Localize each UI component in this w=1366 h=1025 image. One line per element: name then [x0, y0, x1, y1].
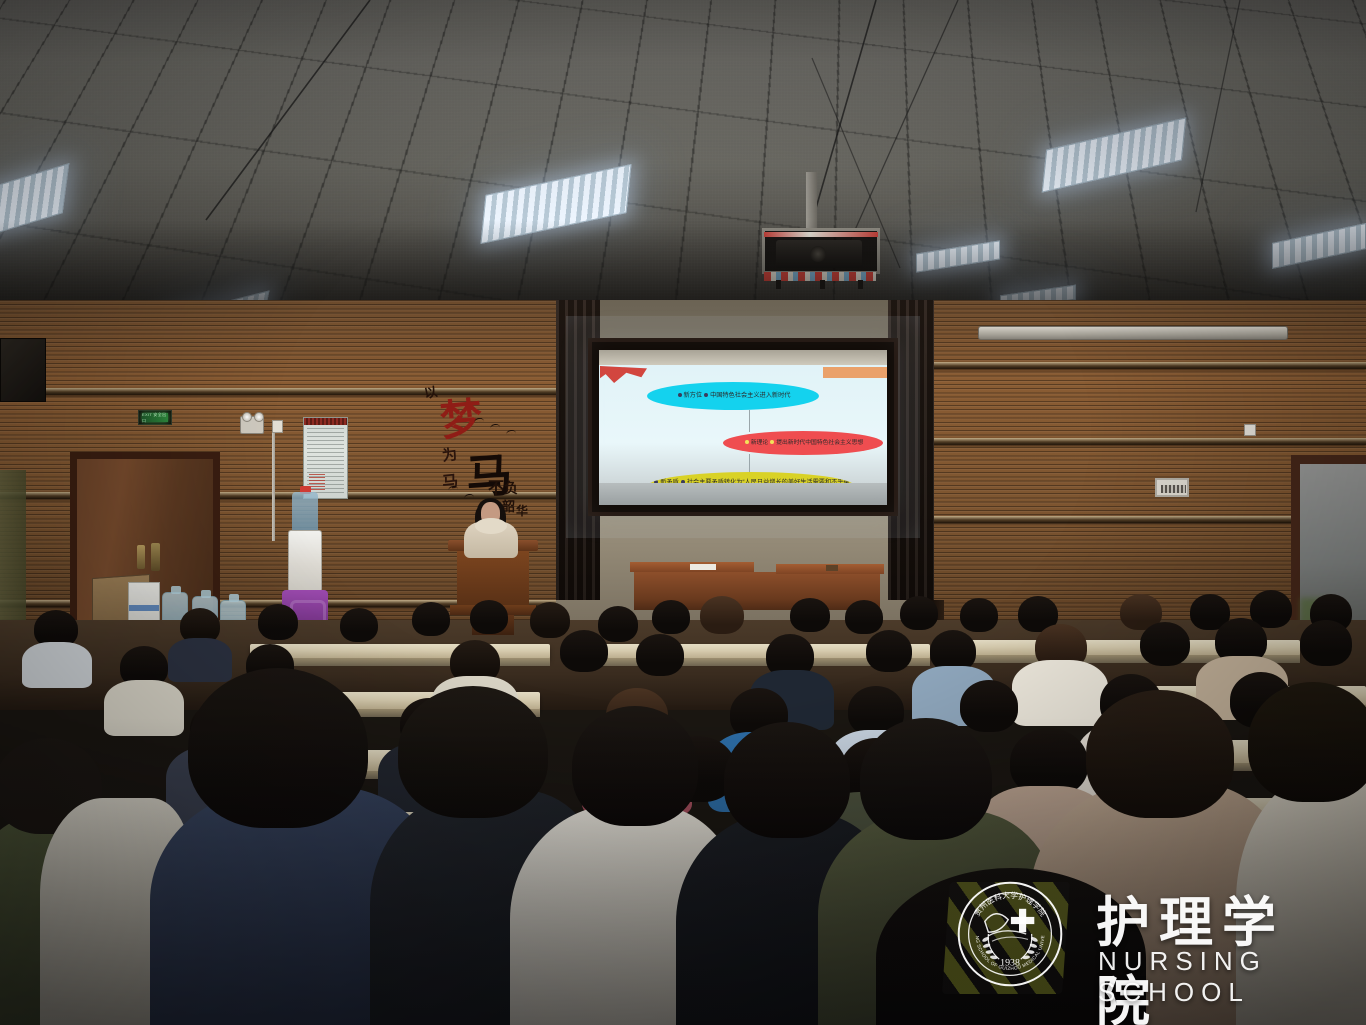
slide-ellipse-blue-label: 新方位 — [684, 392, 703, 399]
audience-head — [866, 630, 912, 672]
audience-head — [412, 602, 450, 636]
audience-head — [598, 606, 638, 642]
presenter-collar — [475, 518, 507, 534]
notice-red-block — [309, 474, 325, 490]
wall-control-panel[interactable] — [1155, 478, 1189, 497]
audience-head-front — [398, 686, 548, 818]
audience-head — [258, 604, 298, 640]
audience-body — [104, 680, 184, 736]
wall-air-conditioner — [978, 326, 1288, 340]
desk-row — [250, 644, 550, 659]
slide-bottom-strip — [599, 483, 887, 505]
audience-body — [1012, 660, 1108, 726]
slide-connector-line — [749, 410, 750, 432]
slide-bullet-icon — [770, 440, 774, 444]
audience-head — [960, 598, 998, 632]
water-jug — [292, 492, 318, 532]
audience-head — [700, 596, 744, 634]
slide-orange-banner — [823, 367, 887, 378]
presenter-at-podium — [455, 500, 525, 556]
audience-head-front — [1086, 690, 1234, 818]
audience-head — [1300, 620, 1352, 666]
slide-ellipse-blue-text: 中国特色社会主义进入新时代 — [710, 392, 790, 399]
audience-head — [845, 600, 883, 634]
audience-head — [960, 680, 1018, 732]
audience-head — [636, 634, 684, 676]
notice-header — [304, 418, 347, 425]
audience-body — [168, 638, 232, 682]
projection-slide: 新方位中国特色社会主义进入新时代 新理论提出新时代中国特色社会主义思想 新矛盾社… — [599, 350, 887, 505]
slide-bullet-icon — [745, 440, 749, 444]
slide-ellipse-red-text: 提出新时代中国特色社会主义思想 — [776, 440, 863, 446]
ceiling — [0, 0, 1366, 340]
audience-body — [22, 642, 92, 688]
slide-bullet-icon — [704, 393, 708, 397]
slide-ellipse-red: 新理论提出新时代中国特色社会主义思想 — [723, 431, 883, 455]
audience-head-front — [188, 668, 368, 828]
audience-head — [560, 630, 608, 672]
exit-sign-label: EXIT 安全出口 — [142, 413, 168, 422]
audience-head — [530, 602, 570, 638]
emergency-light — [240, 416, 264, 434]
wall-speaker — [0, 338, 46, 402]
lecture-hall-photo: 新方位中国特色社会主义进入新时代 新理论提出新时代中国特色社会主义思想 新矛盾社… — [0, 0, 1366, 1025]
slide-ellipse-red-label: 新理论 — [751, 440, 768, 446]
audience-head — [900, 596, 938, 630]
slide-top-strip — [599, 350, 887, 365]
projection-screen: 新方位中国特色社会主义进入新时代 新理论提出新时代中国特色社会主义思想 新矛盾社… — [588, 338, 898, 516]
slide-ribbon-decoration — [600, 366, 647, 383]
wall-cable — [272, 433, 275, 541]
audience-head-front — [1248, 682, 1366, 802]
audience-head — [340, 608, 378, 642]
wall-switch[interactable] — [272, 420, 283, 433]
audience-head-front — [724, 722, 850, 838]
audience-head — [470, 600, 508, 634]
slide-ellipse-blue: 新方位中国特色社会主义进入新时代 — [647, 382, 819, 410]
audience-head — [1140, 622, 1190, 666]
audience-head-front — [860, 718, 992, 840]
seated-audience — [0, 560, 1366, 1025]
audience-head — [790, 598, 830, 632]
audience-head — [652, 600, 690, 634]
wall-sensor — [1244, 424, 1256, 436]
slide-bullet-icon — [678, 393, 682, 397]
slide-connector-line — [749, 454, 750, 472]
exit-sign: EXIT 安全出口 — [138, 410, 172, 425]
audience-head-front — [572, 706, 698, 826]
